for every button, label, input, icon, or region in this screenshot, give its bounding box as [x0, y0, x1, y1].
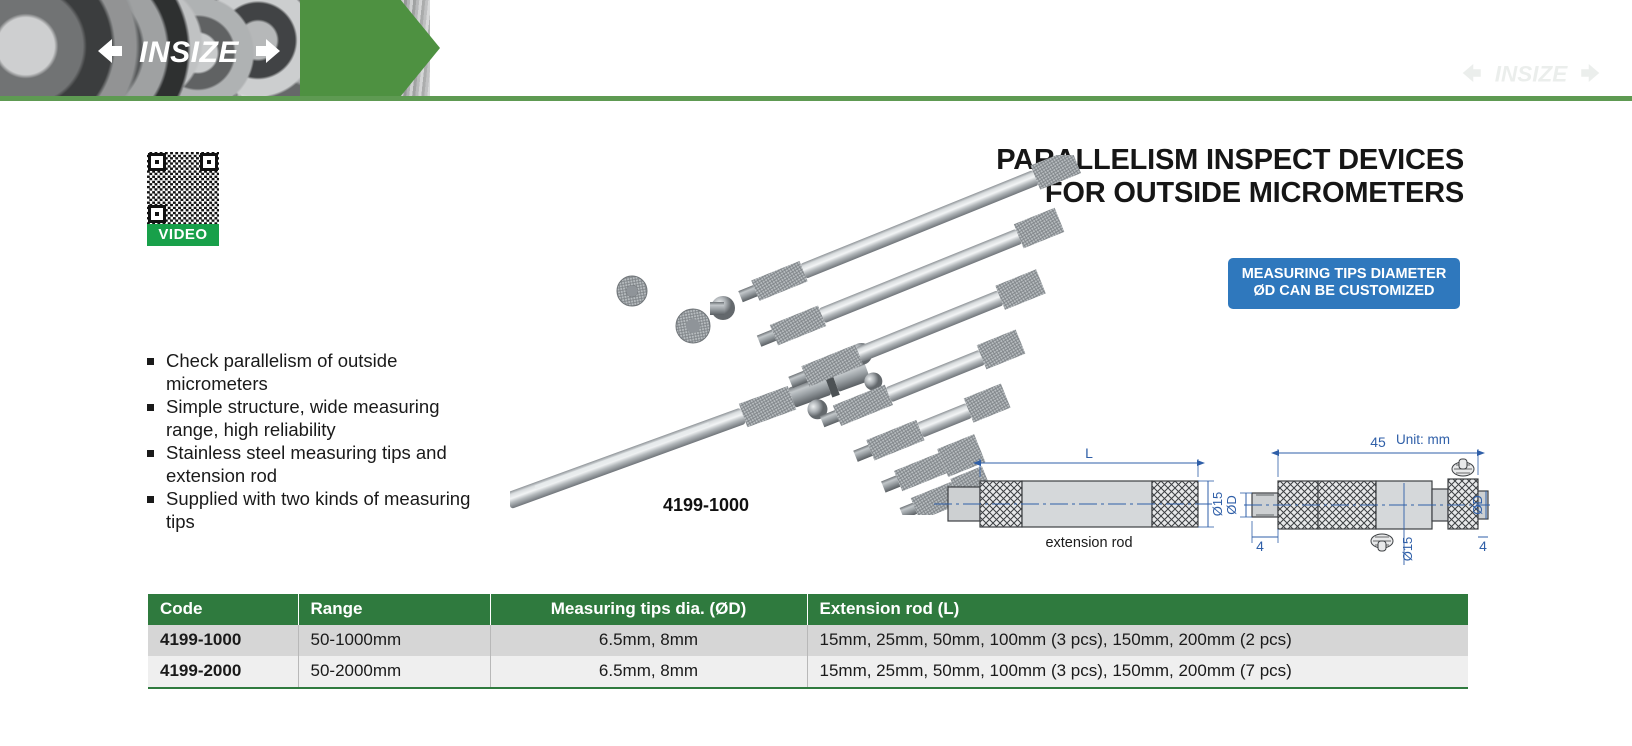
customization-callout: MEASURING TIPS DIAMETER ØD CAN BE CUSTOM…	[1228, 258, 1460, 309]
insize-logo: INSIZE	[98, 31, 280, 71]
cell-extension-rod: 15mm, 25mm, 50mm, 100mm (3 pcs), 150mm, …	[807, 656, 1468, 688]
specifications-table: Code Range Measuring tips dia. (ØD) Exte…	[148, 594, 1468, 689]
callout-line1: MEASURING TIPS DIAMETER	[1234, 266, 1454, 283]
qr-finder-bottom-left	[148, 205, 166, 223]
cell-range: 50-2000mm	[298, 656, 490, 688]
insize-watermark: INSIZE	[1436, 58, 1626, 88]
table-row: 4199-2000 50-2000mm 6.5mm, 8mm 15mm, 25m…	[148, 656, 1468, 688]
cell-code: 4199-2000	[148, 656, 298, 688]
measuring-tip-a	[617, 276, 647, 306]
drawing-extension-rod: L Ø15 extension rod	[934, 445, 1225, 551]
dimension-dia15-right: Ø15	[1400, 537, 1415, 562]
page-header: INSIZE INSIZE	[0, 0, 1632, 101]
measuring-tip-b	[676, 296, 735, 343]
table-header-row: Code Range Measuring tips dia. (ØD) Exte…	[148, 594, 1468, 625]
list-item: Stainless steel measuring tips and exten…	[143, 442, 493, 487]
table-row: 4199-1000 50-1000mm 6.5mm, 8mm 15mm, 25m…	[148, 625, 1468, 656]
technical-drawing: L Ø15 extension rod	[930, 425, 1490, 575]
cell-tips-dia: 6.5mm, 8mm	[490, 625, 807, 656]
dimension-diaD-right: ØD	[1470, 495, 1485, 515]
cell-extension-rod: 15mm, 25mm, 50mm, 100mm (3 pcs), 150mm, …	[807, 625, 1468, 656]
dimension-dia15-left: Ø15	[1210, 492, 1225, 517]
list-item: Simple structure, wide measuring range, …	[143, 396, 493, 441]
dimension-L: L	[1085, 445, 1093, 461]
qr-code-icon[interactable]	[147, 152, 219, 224]
insize-logo-text: INSIZE	[139, 36, 239, 69]
cell-tips-dia: 6.5mm, 8mm	[490, 656, 807, 688]
header-green-rule	[0, 96, 1632, 101]
video-badge-label: VIDEO	[147, 224, 219, 246]
dimension-4-left: 4	[1256, 538, 1264, 554]
dimension-45: 45	[1370, 434, 1386, 450]
column-header-tips-dia: Measuring tips dia. (ØD)	[490, 594, 807, 625]
unit-label: Unit: mm	[1396, 432, 1450, 447]
column-header-code: Code	[148, 594, 298, 625]
qr-finder-top-right	[200, 153, 218, 171]
extension-rod-label: extension rod	[1045, 535, 1132, 551]
dimension-diaD-left: ØD	[1224, 495, 1239, 515]
cell-range: 50-1000mm	[298, 625, 490, 656]
dimension-4-right: 4	[1479, 538, 1487, 554]
column-header-extension-rod: Extension rod (L)	[807, 594, 1468, 625]
callout-line2: ØD CAN BE CUSTOMIZED	[1234, 283, 1454, 300]
thumb-screw-top	[1452, 459, 1474, 476]
cell-code: 4199-1000	[148, 625, 298, 656]
list-item: Supplied with two kinds of measuring tip…	[143, 488, 493, 533]
video-qr-block[interactable]: VIDEO	[147, 152, 219, 246]
qr-finder-top-left	[148, 153, 166, 171]
column-header-range: Range	[298, 594, 490, 625]
thumb-screw-bottom	[1371, 534, 1393, 551]
drawing-assembly: 45 ØD 4 Ø15 ØD 4	[1224, 434, 1490, 565]
insize-watermark-text: INSIZE	[1495, 61, 1569, 86]
list-item: Check parallelism of outside micrometers	[143, 350, 493, 395]
product-photo-caption: 4199-1000	[606, 495, 806, 516]
feature-list: Check parallelism of outside micrometers…	[143, 350, 493, 534]
